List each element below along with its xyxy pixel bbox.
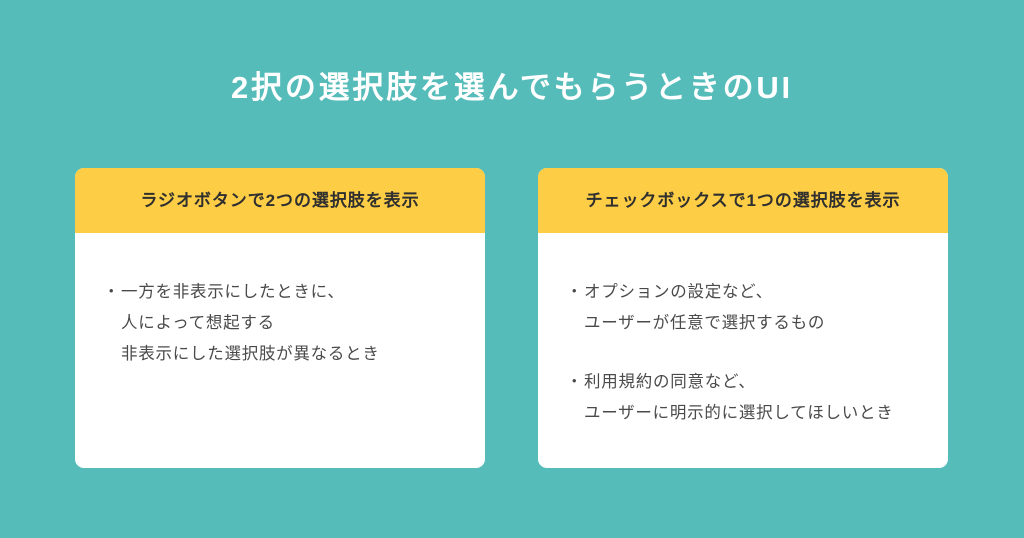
card-checkbox-header-label: チェックボックスで1つの選択肢を表示 [586,189,901,213]
card-radio-header: ラジオボタンで2つの選択肢を表示 [75,168,485,233]
list-item: ・ 利用規約の同意など、 ユーザーに明示的に選択してほしいとき [538,367,948,429]
page-title: 2択の選択肢を選んでもらうときのUI [0,66,1024,110]
bullet-marker-icon: ・ [566,277,583,308]
bullet-line: 非表示にした選択肢が異なるとき [121,339,475,370]
bullet-marker-icon: ・ [566,367,583,398]
card-checkbox-header: チェックボックスで1つの選択肢を表示 [538,168,948,233]
bullet-line: 一方を非表示にしたときに、 [121,277,475,308]
bullet-line: 利用規約の同意など、 [584,367,938,398]
bullet-line: ユーザーが任意で選択するもの [584,308,938,339]
bullet-line: ユーザーに明示的に選択してほしいとき [584,398,938,429]
card-radio-body: ・ 一方を非表示にしたときに、 人によって想起する 非表示にした選択肢が異なると… [75,233,485,370]
card-radio-button: ラジオボタンで2つの選択肢を表示 ・ 一方を非表示にしたときに、 人によって想起… [75,168,485,468]
bullet-marker-icon: ・ [103,277,120,308]
card-checkbox-body: ・ オプションの設定など、 ユーザーが任意で選択するもの ・ 利用規約の同意など… [538,233,948,429]
bullet-line: オプションの設定など、 [584,277,938,308]
list-item: ・ オプションの設定など、 ユーザーが任意で選択するもの [538,277,948,339]
slide-canvas: 2択の選択肢を選んでもらうときのUI ラジオボタンで2つの選択肢を表示 ・ 一方… [0,0,1024,538]
list-item: ・ 一方を非表示にしたときに、 人によって想起する 非表示にした選択肢が異なると… [75,277,485,370]
card-radio-header-label: ラジオボタンで2つの選択肢を表示 [140,189,419,213]
card-checkbox: チェックボックスで1つの選択肢を表示 ・ オプションの設定など、 ユーザーが任意… [538,168,948,468]
bullet-line: 人によって想起する [121,308,475,339]
